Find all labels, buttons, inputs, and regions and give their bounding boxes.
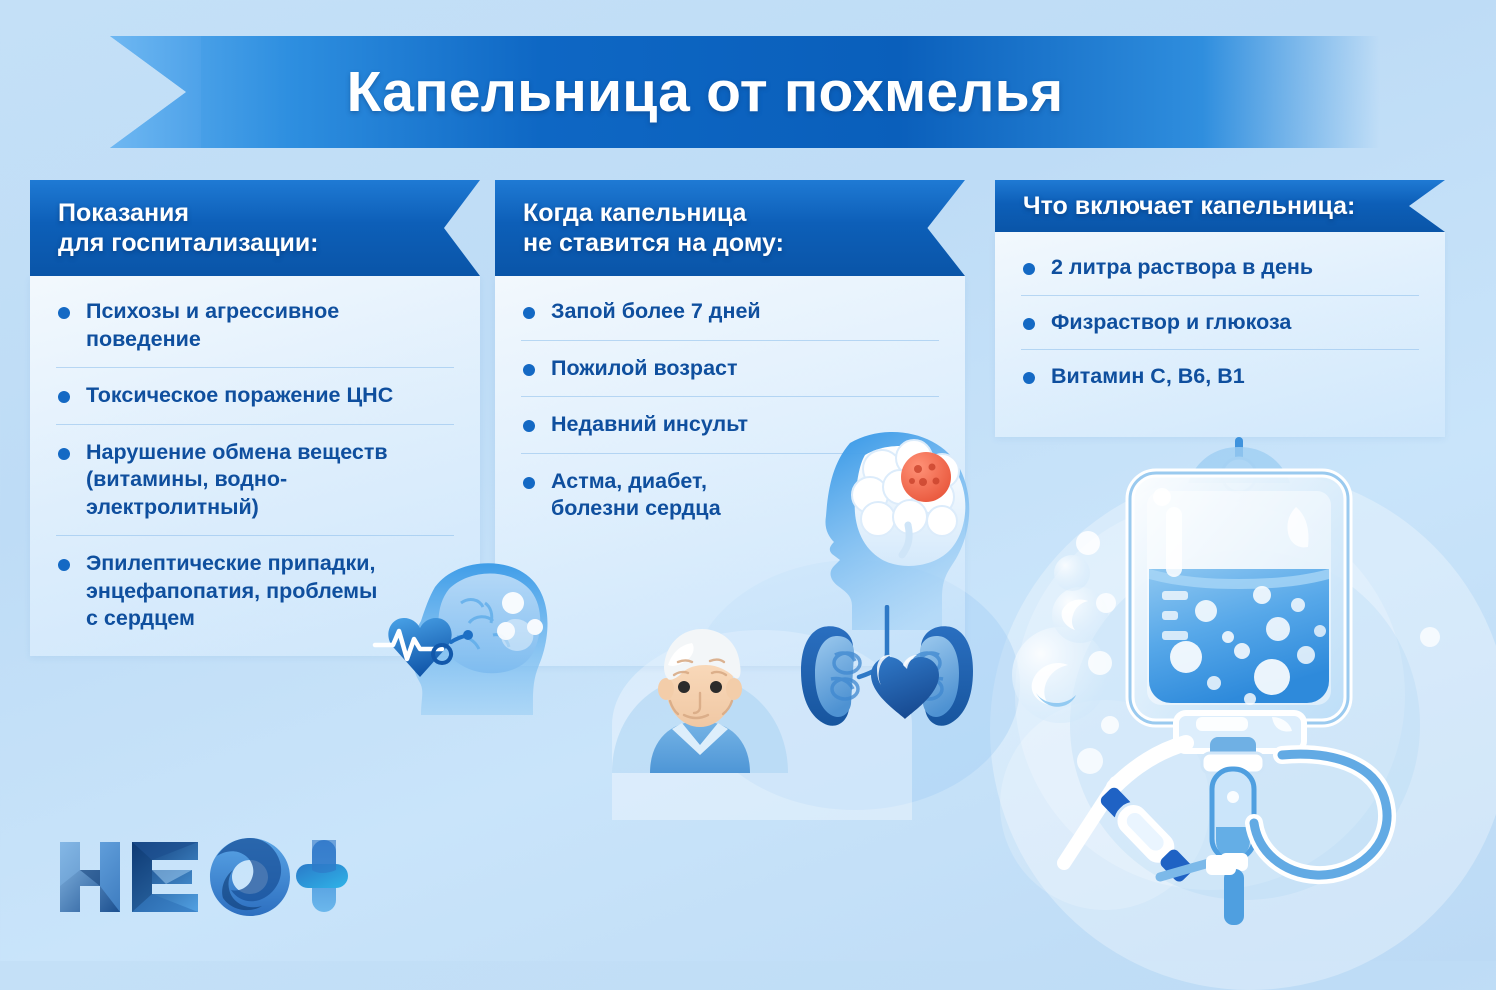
- list-item: Токсическое поражение ЦНС: [56, 382, 454, 425]
- section-title: Показания для госпитализации:: [58, 198, 319, 259]
- iv-drip-bag-icon: [1010, 425, 1480, 925]
- section-title: Что включает капельница:: [1023, 191, 1355, 222]
- section-body-contents: 2 литра раствора в день Физраствор и глю…: [995, 232, 1445, 437]
- title-banner: Капельница от похмелья: [110, 36, 1380, 148]
- page-title: Капельница от похмелья: [347, 59, 1064, 125]
- list-item: Витамин C, B6, B1: [1021, 363, 1419, 404]
- list-item: 2 литра раствора в день: [1021, 254, 1419, 296]
- list-item: Физраствор и глюкоза: [1021, 309, 1419, 351]
- section-contents: Что включает капельница: 2 литра раствор…: [995, 180, 1445, 437]
- lungs-heart-icon: [795, 605, 980, 750]
- banner-tail: [109, 36, 201, 148]
- head-brain-heart-pulse-icon: [365, 545, 585, 715]
- head-brain-stroke-icon: [790, 425, 1005, 630]
- list-item: Нарушение обмена веществ (витамины, водн…: [56, 439, 454, 537]
- section-header-indications: Показания для госпитализации:: [30, 180, 480, 276]
- section-header-contraindications: Когда капельница не ставится на дому:: [495, 180, 965, 276]
- list-item: Пожилой возраст: [521, 355, 939, 398]
- list-item: Психозы и агрессивное поведение: [56, 298, 454, 368]
- neo-plus-logo: [58, 836, 348, 918]
- contents-list: 2 литра раствора в день Физраствор и глю…: [1021, 254, 1419, 404]
- list-item: Запой более 7 дней: [521, 298, 939, 341]
- section-title: Когда капельница не ставится на дому:: [523, 198, 784, 259]
- elderly-person-icon: [610, 615, 790, 775]
- infographic-canvas: Капельница от похмелья Показания для гос…: [0, 0, 1496, 961]
- section-header-contents: Что включает капельница:: [995, 180, 1445, 232]
